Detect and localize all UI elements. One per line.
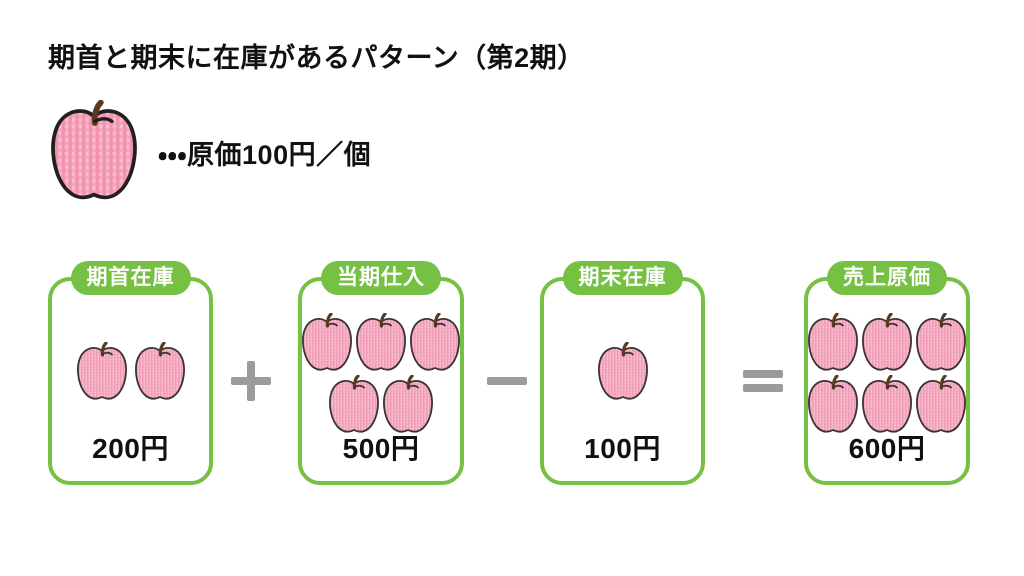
minus-operator bbox=[481, 355, 533, 407]
legend: ・・・原価100円／個 bbox=[48, 100, 371, 204]
apple-row bbox=[806, 313, 968, 373]
legend-label: ・・・原価100円／個 bbox=[158, 133, 371, 172]
amount-beginning-inventory: 200円 bbox=[52, 427, 209, 467]
box-label-cost-of-goods-sold: 売上原価 bbox=[827, 261, 947, 295]
apple-icon bbox=[596, 342, 650, 402]
apple-group-beginning-inventory bbox=[52, 313, 209, 431]
apple-row bbox=[300, 313, 462, 373]
apple-icon bbox=[381, 375, 435, 435]
apple-row bbox=[327, 375, 435, 435]
page-title: 期首と期末に在庫があるパターン（第2期） bbox=[48, 36, 585, 75]
apple-icon bbox=[75, 342, 129, 402]
apple-row bbox=[806, 375, 968, 435]
apple-icon bbox=[914, 375, 968, 435]
apple-group-cost-of-goods-sold bbox=[808, 313, 966, 431]
apple-row bbox=[73, 342, 189, 402]
apple-group-current-purchases bbox=[302, 313, 460, 431]
apple-group-ending-inventory bbox=[544, 313, 701, 431]
cost-of-goods-diagram: 期首在庫 200円 当期仕入 bbox=[0, 250, 1024, 500]
apple-icon bbox=[300, 313, 354, 373]
amount-cost-of-goods-sold: 600円 bbox=[808, 427, 966, 467]
apple-row bbox=[596, 342, 650, 402]
apple-icon bbox=[860, 313, 914, 373]
apple-icon bbox=[860, 375, 914, 435]
apple-icon bbox=[408, 313, 462, 373]
apple-icon bbox=[914, 313, 968, 373]
plus-operator bbox=[225, 355, 277, 407]
apple-icon bbox=[48, 100, 140, 204]
apple-icon bbox=[327, 375, 381, 435]
apple-icon bbox=[354, 313, 408, 373]
box-label-current-purchases: 当期仕入 bbox=[321, 261, 441, 295]
amount-ending-inventory: 100円 bbox=[544, 427, 701, 467]
box-beginning-inventory: 期首在庫 200円 bbox=[48, 277, 213, 485]
apple-icon bbox=[806, 375, 860, 435]
box-label-beginning-inventory: 期首在庫 bbox=[71, 261, 191, 295]
amount-current-purchases: 500円 bbox=[302, 427, 460, 467]
box-cost-of-goods-sold: 売上原価 bbox=[804, 277, 970, 485]
box-current-purchases: 当期仕入 500円 bbox=[298, 277, 464, 485]
apple-icon bbox=[806, 313, 860, 373]
apple-icon bbox=[133, 342, 187, 402]
box-ending-inventory: 期末在庫 100円 bbox=[540, 277, 705, 485]
equals-operator bbox=[737, 355, 789, 407]
box-label-ending-inventory: 期末在庫 bbox=[563, 261, 683, 295]
